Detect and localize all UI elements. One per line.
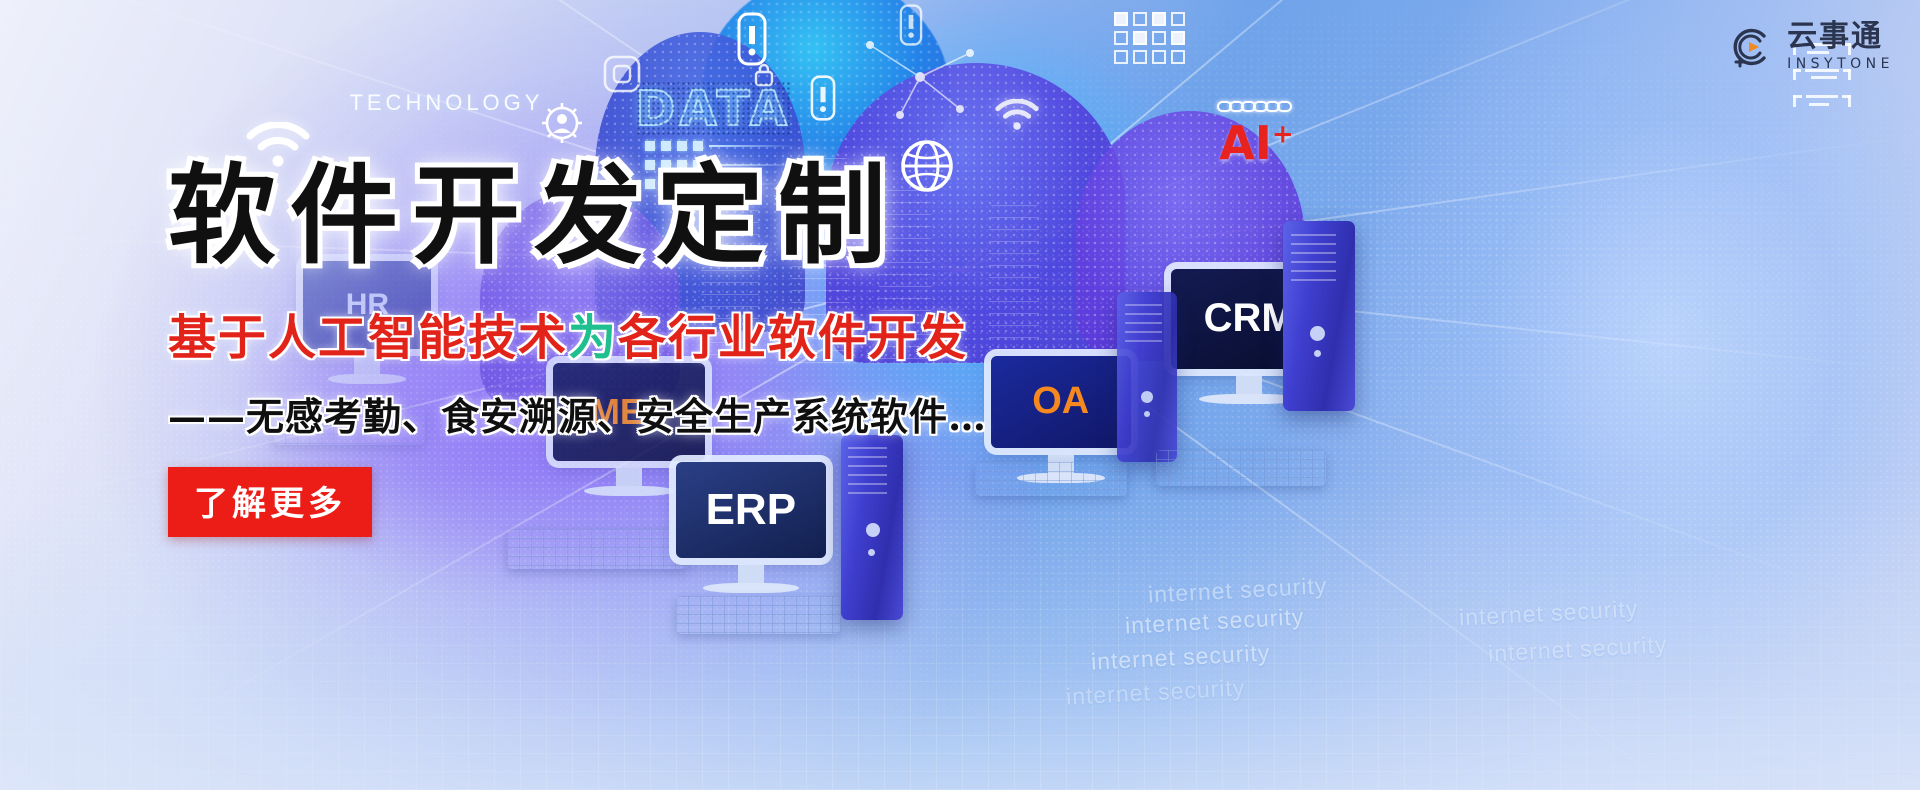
keyboard-erp <box>676 596 840 634</box>
ai-text: AI <box>1219 116 1272 170</box>
pc-tower-crm <box>1283 221 1355 411</box>
copy-block: 软件开发定制 基于人工智能技术为各行业软件开发 ——无感考勤、食安溯源、安全生产… <box>168 160 1028 537</box>
subtitle-part-1: 基于人工智能技术 <box>168 310 568 366</box>
square-matrix-icon <box>1114 12 1185 64</box>
logo-text: 云事通 INSYTONE <box>1787 22 1894 71</box>
device-label-oa: OA <box>1032 380 1089 423</box>
chain-link-icon <box>1219 101 1294 112</box>
device-label-crm: CRM <box>1204 296 1295 341</box>
tagline: ——无感考勤、食安溯源、安全生产系统软件… <box>168 386 1028 441</box>
wifi-icon <box>995 99 1039 131</box>
banner-root: TECHNOLOGY DATA AI+ HR MES <box>0 0 1920 790</box>
learn-more-button[interactable]: 了解更多 <box>168 467 372 537</box>
mobile-device-icon <box>737 12 767 66</box>
mobile-device-icon <box>810 75 836 121</box>
page-title: 软件开发定制 <box>168 160 1028 272</box>
ai-superscript: + <box>1272 120 1294 150</box>
brand-logo[interactable]: 云事通 INSYTONE <box>1729 22 1894 71</box>
logo-text-en: INSYTONE <box>1787 57 1894 71</box>
settings-user-icon <box>538 99 586 147</box>
subtitle-part-2: 为 <box>568 310 618 366</box>
network-node-icon <box>860 33 980 123</box>
data-label: DATA <box>636 81 791 137</box>
technology-label: TECHNOLOGY <box>349 90 543 116</box>
bracket-glyph-icon <box>1793 93 1851 109</box>
subtitle: 基于人工智能技术为各行业软件开发 <box>168 298 1028 368</box>
logo-text-cn: 云事通 <box>1787 22 1894 52</box>
subtitle-part-3: 各行业软件开发 <box>618 310 968 366</box>
pc-tower-side <box>1117 292 1177 462</box>
keyboard-crm <box>1156 450 1326 486</box>
ai-plus-badge: AI+ <box>1219 101 1294 166</box>
ai-label: AI+ <box>1219 120 1294 166</box>
play-circle-icon <box>1729 24 1775 70</box>
